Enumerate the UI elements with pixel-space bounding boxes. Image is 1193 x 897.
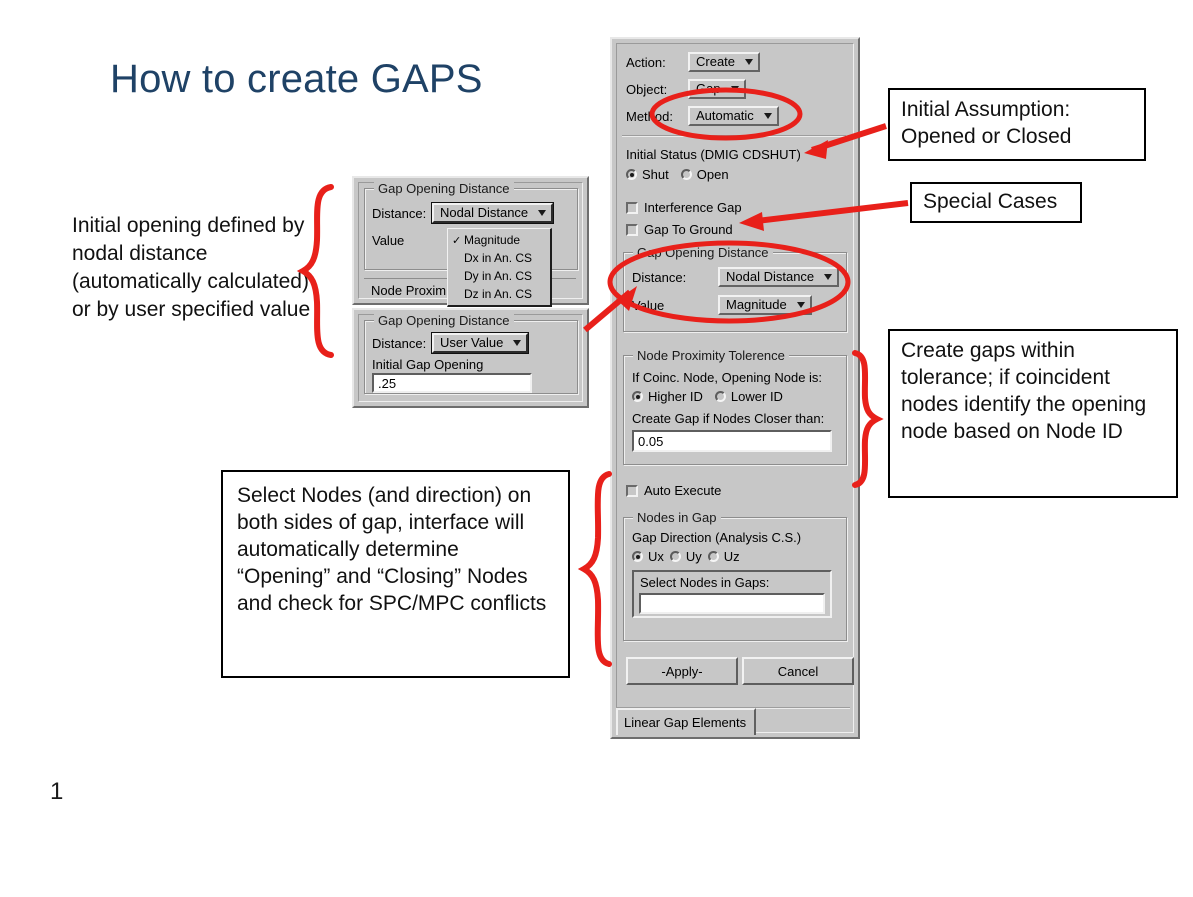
radio-status-shut[interactable]: Shut — [626, 167, 669, 182]
radio-dot-icon — [670, 551, 681, 562]
chevron-down-icon — [513, 340, 521, 346]
radio-direction-ux[interactable]: Ux — [632, 549, 664, 564]
nodes-in-gap-title: Nodes in Gap — [633, 510, 721, 525]
tab-linear-gap-elements-label: Linear Gap Elements — [624, 715, 746, 730]
radio-dot-icon — [715, 391, 726, 402]
page-title: How to create GAPS — [110, 57, 580, 102]
nodes-closer-input[interactable]: 0.05 — [632, 430, 832, 452]
gap-opening-distance-title: Gap Opening Distance — [633, 245, 773, 260]
panel2-distance-dropdown-value: User Value — [440, 335, 503, 350]
menu-item-dz[interactable]: Dz in An. CS — [448, 285, 550, 303]
checkbox-interference-gap-label: Interference Gap — [644, 200, 742, 215]
brace-select-nodes — [584, 474, 609, 664]
panel-distance-dropdown-value: Nodal Distance — [440, 205, 528, 220]
initial-gap-opening-input[interactable]: .25 — [372, 373, 532, 393]
radio-higher-id-label: Higher ID — [648, 389, 703, 404]
note-initial-opening: Initial opening defined by nodal distanc… — [72, 212, 320, 324]
callout-special-cases: Special Cases — [910, 182, 1082, 223]
menu-item-magnitude-label: Magnitude — [464, 233, 520, 247]
radio-status-open[interactable]: Open — [681, 167, 729, 182]
chevron-down-icon — [745, 59, 753, 65]
checkbox-gap-to-ground-label: Gap To Ground — [644, 222, 733, 237]
radio-direction-uy-label: Uy — [686, 549, 702, 564]
radio-dot-icon — [632, 391, 643, 402]
method-dropdown-value: Automatic — [696, 108, 754, 123]
checkbox-icon — [626, 224, 638, 236]
radio-direction-uy[interactable]: Uy — [670, 549, 702, 564]
gap-opening-distance-panel-nodal: Gap Opening Distance Distance: Nodal Dis… — [352, 176, 589, 305]
callout-tolerance-note-text: Create gaps within tolerance; if coincid… — [901, 339, 1146, 443]
checkbox-gap-to-ground[interactable]: Gap To Ground — [626, 222, 733, 237]
gap-value-label: Value — [632, 298, 718, 313]
checkbox-auto-execute[interactable]: Auto Execute — [626, 483, 721, 498]
panel2-distance-label: Distance: — [372, 336, 432, 351]
chevron-down-icon — [731, 86, 739, 92]
gap-direction-label: Gap Direction (Analysis C.S.) — [632, 530, 801, 545]
menu-item-dx[interactable]: Dx in An. CS — [448, 249, 550, 267]
apply-button[interactable]: -Apply- — [626, 657, 738, 685]
chevron-down-icon — [538, 210, 546, 216]
chevron-down-icon — [824, 274, 832, 280]
menu-item-dz-label: Dz in An. CS — [464, 287, 532, 301]
gap-value-dropdown[interactable]: Magnitude — [718, 295, 812, 315]
panel-gap-opening-title: Gap Opening Distance — [374, 181, 514, 196]
callout-select-nodes-note-text: Select Nodes (and direction) on both sid… — [237, 484, 546, 615]
action-dropdown-value: Create — [696, 54, 735, 69]
checkbox-auto-execute-label: Auto Execute — [644, 483, 721, 498]
gap-distance-dropdown-value: Nodal Distance — [726, 269, 814, 284]
radio-dot-icon — [626, 169, 637, 180]
radio-status-open-label: Open — [697, 167, 729, 182]
callout-initial-assumption-text: Initial Assumption: Opened or Closed — [901, 98, 1071, 148]
radio-higher-id[interactable]: Higher ID — [632, 389, 703, 404]
gap-value-dropdown-value: Magnitude — [726, 297, 787, 312]
callout-select-nodes-note: Select Nodes (and direction) on both sid… — [221, 470, 570, 678]
initial-gap-opening-label: Initial Gap Opening — [372, 357, 483, 372]
gap-distance-label: Distance: — [632, 270, 718, 285]
divider — [622, 135, 846, 137]
select-nodes-input[interactable] — [639, 593, 825, 614]
radio-dot-icon — [681, 169, 692, 180]
callout-initial-assumption: Initial Assumption: Opened or Closed — [888, 88, 1146, 161]
check-icon: ✓ — [452, 234, 464, 247]
panel-value-label: Value — [372, 233, 432, 248]
radio-lower-id[interactable]: Lower ID — [715, 389, 783, 404]
select-nodes-label: Select Nodes in Gaps: — [640, 575, 769, 590]
method-label: Method: — [626, 109, 688, 124]
object-dropdown[interactable]: Gap — [688, 79, 746, 99]
coincident-node-label: If Coinc. Node, Opening Node is: — [632, 370, 822, 385]
chevron-down-icon — [764, 113, 772, 119]
radio-dot-icon — [708, 551, 719, 562]
radio-direction-uz-label: Uz — [724, 549, 740, 564]
method-dropdown[interactable]: Automatic — [688, 106, 779, 126]
panel-distance-dropdown[interactable]: Nodal Distance — [432, 203, 553, 223]
page-number: 1 — [50, 778, 63, 806]
nodes-in-gap-group: Nodes in Gap Gap Direction (Analysis C.S… — [623, 517, 847, 641]
create-gap-dialog: Action: Create Object: Gap Method: Autom… — [610, 37, 860, 739]
radio-direction-ux-label: Ux — [648, 549, 664, 564]
callout-tolerance-note: Create gaps within tolerance; if coincid… — [888, 329, 1178, 498]
cancel-button[interactable]: Cancel — [742, 657, 854, 685]
chevron-down-icon — [797, 302, 805, 308]
tab-linear-gap-elements[interactable]: Linear Gap Elements — [616, 708, 756, 735]
radio-lower-id-label: Lower ID — [731, 389, 783, 404]
node-proximity-tolerance-group: Node Proximity Tolerence If Coinc. Node,… — [623, 355, 847, 465]
checkbox-interference-gap[interactable]: Interference Gap — [626, 200, 742, 215]
gap-distance-dropdown[interactable]: Nodal Distance — [718, 267, 839, 287]
menu-item-dx-label: Dx in An. CS — [464, 251, 532, 265]
panel-distance-label: Distance: — [372, 206, 432, 221]
object-label: Object: — [626, 82, 688, 97]
panel2-distance-dropdown[interactable]: User Value — [432, 333, 528, 353]
panel2-gap-opening-group: Gap Opening Distance Distance: User Valu… — [364, 320, 578, 394]
node-proximity-title: Node Proximity Tolerence — [633, 348, 789, 363]
action-dropdown[interactable]: Create — [688, 52, 760, 72]
gap-opening-distance-panel-uservalue: Gap Opening Distance Distance: User Valu… — [352, 308, 589, 408]
callout-special-cases-text: Special Cases — [923, 189, 1057, 216]
select-nodes-panel: Select Nodes in Gaps: — [632, 570, 832, 618]
note-initial-opening-text: Initial opening defined by nodal distanc… — [72, 214, 310, 321]
initial-status-label: Initial Status (DMIG CDSHUT) — [626, 147, 801, 162]
menu-item-magnitude[interactable]: ✓ Magnitude — [448, 231, 550, 249]
gap-opening-distance-group: Gap Opening Distance Distance: Nodal Dis… — [623, 252, 847, 332]
radio-status-shut-label: Shut — [642, 167, 669, 182]
checkbox-icon — [626, 202, 638, 214]
menu-item-dy-label: Dy in An. CS — [464, 269, 532, 283]
menu-item-dy[interactable]: Dy in An. CS — [448, 267, 550, 285]
radio-direction-uz[interactable]: Uz — [708, 549, 740, 564]
panel2-gap-opening-title: Gap Opening Distance — [374, 313, 514, 328]
checkbox-icon — [626, 485, 638, 497]
nodes-closer-label: Create Gap if Nodes Closer than: — [632, 411, 824, 426]
action-label: Action: — [626, 55, 688, 70]
distance-value-dropdown-menu[interactable]: ✓ Magnitude Dx in An. CS Dy in An. CS Dz… — [447, 228, 552, 307]
radio-dot-icon — [632, 551, 643, 562]
object-dropdown-value: Gap — [696, 81, 721, 96]
